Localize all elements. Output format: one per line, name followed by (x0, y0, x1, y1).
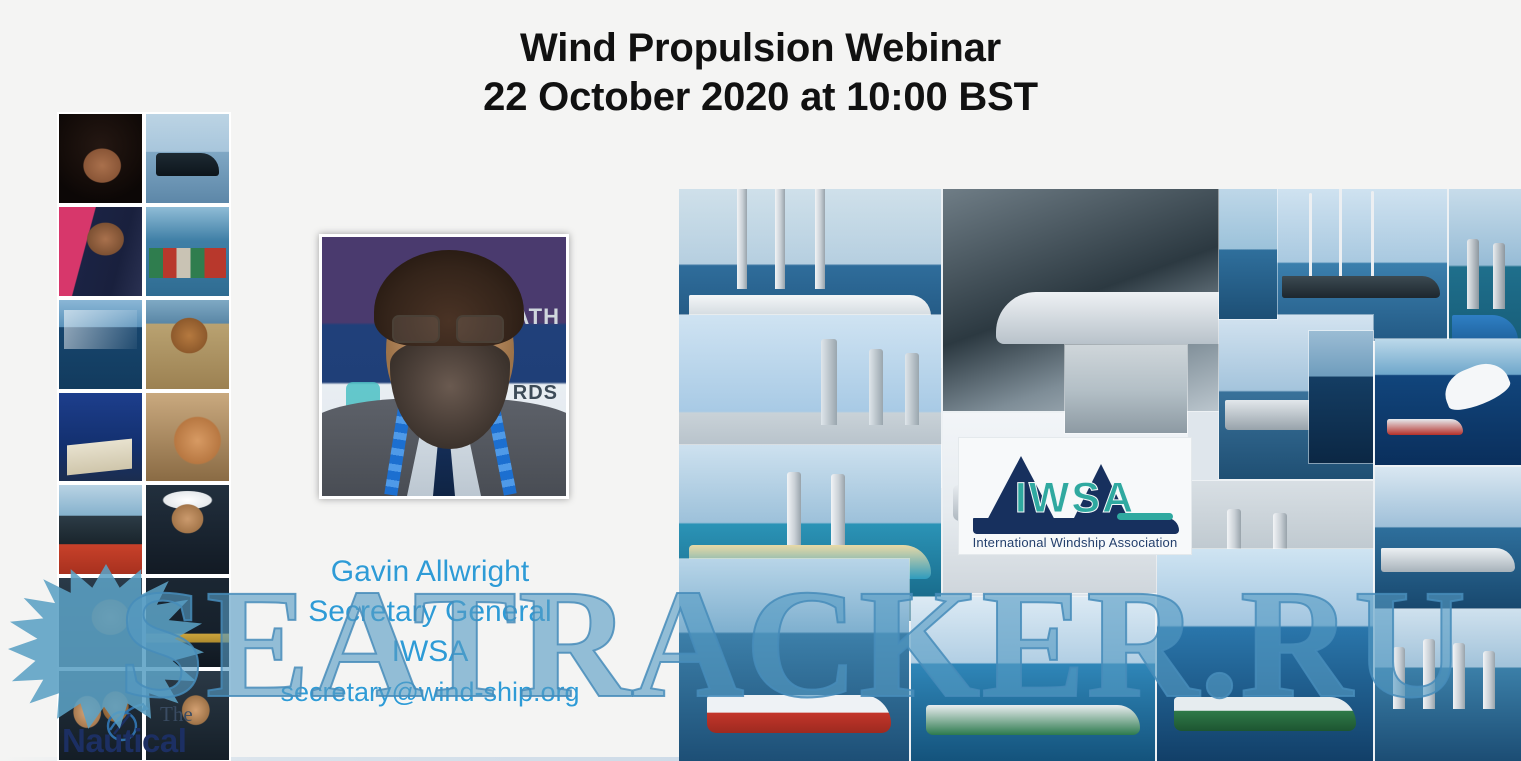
photo-woman-in-pink-jacket (59, 207, 142, 296)
iwsa-wordmark: IWSA (959, 474, 1191, 523)
photo-crew-members-talking (59, 578, 142, 667)
collage-wingsail-tanker-green (1157, 549, 1373, 761)
iwsa-tagline: International Windship Association (959, 535, 1191, 550)
collage-hard-sail-bulk-carrier (911, 597, 1155, 761)
title-line-1: Wind Propulsion Webinar (0, 24, 1521, 73)
nautical-logo-name: Nautical (62, 722, 186, 760)
collage-harbour-wind-rotor-ship (1065, 345, 1187, 433)
speaker-organisation: IWSA (170, 632, 690, 672)
speaker-headshot: ATH RDS (319, 234, 569, 499)
photo-ship-bridge-console (59, 300, 142, 389)
collage-suction-wing-cargo-ship (1375, 467, 1521, 609)
photo-smiling-woman-cadet (59, 114, 142, 203)
title-line-2: 22 October 2020 at 10:00 BST (0, 73, 1521, 122)
nautical-institute-logo: The Nautical (56, 700, 266, 761)
iwsa-logo: IWSA International Windship Association (959, 438, 1191, 554)
collage-kite-sail-bulk-carrier (1375, 339, 1521, 465)
collage-wind-assisted-ferry (1375, 609, 1521, 761)
photo-small-boat-at-sea (146, 114, 229, 203)
page-title: Wind Propulsion Webinar 22 October 2020 … (0, 24, 1521, 122)
photo-navigation-chart-table (59, 393, 142, 482)
speaker-role: Secretary General (170, 592, 690, 632)
collage-coastal-wind-assist-ship (679, 559, 909, 761)
collage-tall-ship-under-sail (1219, 189, 1277, 319)
speaker-glasses (392, 315, 504, 341)
photo-hands-on-chart (146, 393, 229, 482)
webinar-slide: Wind Propulsion Webinar 22 October 2020 … (0, 0, 1521, 761)
photo-red-hull-ship-bow (59, 485, 142, 574)
collage-skysail-kite-vessel (1309, 331, 1373, 463)
speaker-name: Gavin Allwright (170, 552, 690, 592)
photo-officer-at-console (146, 300, 229, 389)
photo-container-ship-deck (146, 207, 229, 296)
speaker-details: Gavin Allwright Secretary General IWSA s… (170, 552, 690, 712)
